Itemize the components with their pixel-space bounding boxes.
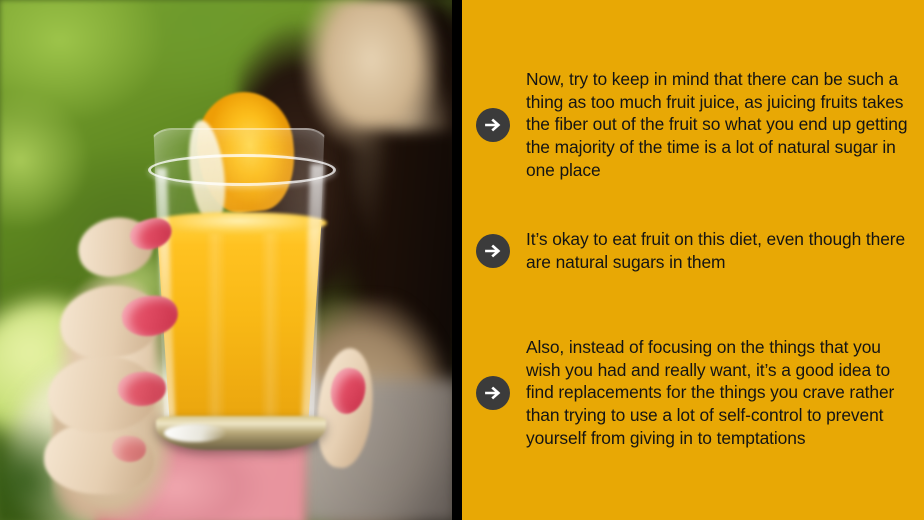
bullet-item: Now, try to keep in mind that there can … [476,68,924,181]
juice-streaks [153,220,325,430]
bullet-list: Now, try to keep in mind that there can … [462,0,924,520]
content-panel: Now, try to keep in mind that there can … [462,0,924,520]
orange-juice [153,220,325,430]
juice-surface [151,212,327,234]
glass-rim [148,154,336,186]
slide-root: Now, try to keep in mind that there can … [0,0,924,520]
bullet-text: Also, instead of focusing on the things … [526,336,916,449]
photo-panel [0,0,452,520]
bullet-text: Now, try to keep in mind that there can … [526,68,916,181]
panel-divider [452,0,462,520]
bullet-text: It’s okay to eat fruit on this diet, eve… [526,228,916,273]
arrow-right-circle-icon [476,108,510,142]
arrow-right-circle-icon [476,376,510,410]
glass-base-shine [164,424,226,442]
juice-glass [146,128,332,430]
arrow-right-circle-icon [476,234,510,268]
bullet-item: Also, instead of focusing on the things … [476,336,924,449]
bullet-item: It’s okay to eat fruit on this diet, eve… [476,228,924,273]
